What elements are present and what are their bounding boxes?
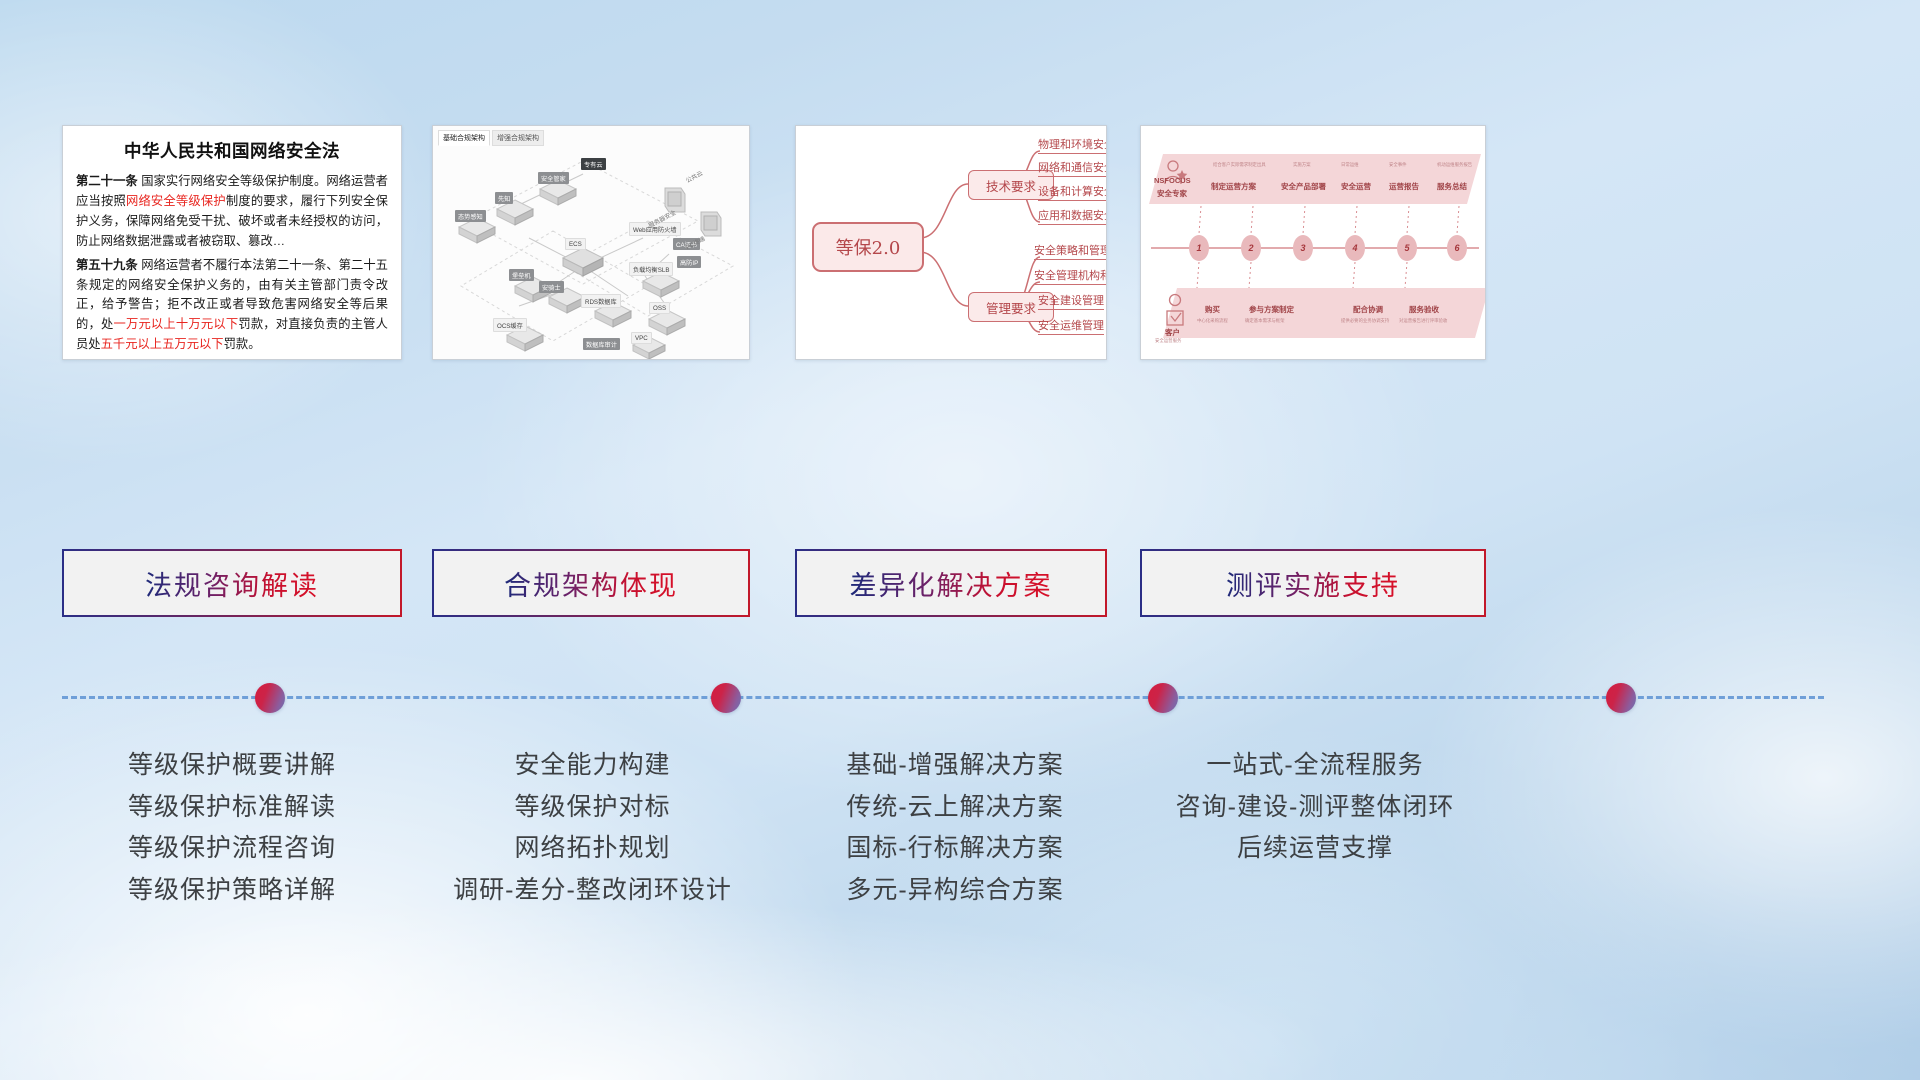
card-mindmap-dengbao[interactable]: 等保2.0 技术要求 管理要求 物理和环境安全 网络和通信安全 设备和计算安全 … bbox=[795, 125, 1107, 360]
list-item: 等级保护概要讲解 bbox=[62, 745, 402, 787]
node-ecs: ECS bbox=[565, 238, 586, 250]
nsfocus-bottom-sub-1: 中心化采购流程 bbox=[1197, 318, 1228, 324]
section-list-compliance-architecture: 安全能力构建 等级保护对标 网络拓扑规划 调研-差分-整改闭环设计 bbox=[425, 745, 760, 911]
section-header-evaluation-support[interactable]: 测评实施支持 bbox=[1140, 549, 1486, 617]
timeline-dot-2[interactable] bbox=[711, 683, 741, 713]
law-article-59-highlight-b: 五千元以上五万元以下 bbox=[101, 337, 224, 351]
section-list-differentiated-solution: 基础-增强解决方案 传统-云上解决方案 国标-行标解决方案 多元-异构综合方案 bbox=[790, 745, 1120, 911]
node-situation-awareness: 态势感知 bbox=[455, 210, 486, 222]
nsfocus-expert-label: 安全专家 bbox=[1157, 188, 1187, 199]
law-title: 中华人民共和国网络安全法 bbox=[76, 138, 388, 163]
nsfocus-step-number-3: 3 bbox=[1293, 235, 1313, 261]
list-items: 一站式-全流程服务 咨询-建设-测评整体闭环 后续运营支撑 bbox=[1135, 745, 1495, 870]
card-cybersecurity-law[interactable]: 中华人民共和国网络安全法 第二十一条 国家实行网络安全等级保护制度。网络运营者应… bbox=[62, 125, 402, 360]
timeline-dot-3[interactable] bbox=[1148, 683, 1178, 713]
nsfocus-top-sub-3: 日常运维 bbox=[1341, 162, 1359, 168]
nsfocus-bottom-sub-4: 对运营报告进行评审验收 bbox=[1399, 318, 1447, 324]
nsfocus-bottom-title-3: 配合协调 bbox=[1353, 304, 1383, 315]
mindmap-leaf-application: 应用和数据安全 bbox=[1038, 207, 1107, 225]
nsfocus-top-title-2: 安全产品部署 bbox=[1281, 181, 1326, 192]
nsfocus-diagram: NSFOCUS 安全专家 结合客户实际需求制定出具 制定运营方案 实施方案 安全… bbox=[1141, 126, 1485, 359]
law-article-59-label: 第五十九条 bbox=[76, 258, 138, 272]
law-article-59: 第五十九条 网络运营者不履行本法第二十一条、第二十五条规定的网络安全保护义务的，… bbox=[76, 256, 388, 356]
law-article-21: 第二十一条 国家实行网络安全等级保护制度。网络运营者应当按照网络安全等级保护制度… bbox=[76, 172, 388, 252]
nsfocus-bottom-title-1: 购买 bbox=[1205, 304, 1220, 315]
timeline-dashed-line bbox=[62, 696, 1824, 699]
section-header-differentiated-solution[interactable]: 差异化解决方案 bbox=[795, 549, 1107, 617]
nsfocus-top-title-4: 运营报告 bbox=[1389, 181, 1419, 192]
list-item: 调研-差分-整改闭环设计 bbox=[425, 870, 760, 912]
law-article-59-highlight-a: 一万元以上十万元以下 bbox=[113, 317, 238, 331]
list-item: 等级保护策略详解 bbox=[62, 870, 402, 912]
nsfocus-step-number-1: 1 bbox=[1189, 235, 1209, 261]
nsfocus-step-number-5: 5 bbox=[1397, 235, 1417, 261]
list-items: 安全能力构建 等级保护对标 网络拓扑规划 调研-差分-整改闭环设计 bbox=[425, 745, 760, 911]
mindmap-leaf-construction: 安全建设管理 bbox=[1038, 292, 1104, 310]
nsfocus-top-sub-1: 结合客户实际需求制定出具 bbox=[1213, 162, 1266, 168]
node-rds-database: RDS数据库 bbox=[581, 294, 621, 308]
mindmap-leaf-organization: 安全管理机构和人员 bbox=[1034, 267, 1107, 285]
node-vpc: VPC bbox=[631, 332, 652, 344]
list-items: 基础-增强解决方案 传统-云上解决方案 国标-行标解决方案 多元-异构综合方案 bbox=[790, 745, 1120, 911]
nsfocus-top-sub-4: 安全事件 bbox=[1389, 162, 1407, 168]
section-list-evaluation-support: 一站式-全流程服务 咨询-建设-测评整体闭环 后续运营支撑 bbox=[1135, 745, 1495, 870]
list-item: 后续运营支撑 bbox=[1135, 828, 1495, 870]
nsfocus-bottom-sub-2: 确定基本需求与框架 bbox=[1245, 318, 1285, 324]
section-header-label: 合规架构体现 bbox=[504, 564, 678, 603]
nsfocus-customer-label: 客户 bbox=[1165, 327, 1180, 338]
mindmap-diagram: 等保2.0 技术要求 管理要求 物理和环境安全 网络和通信安全 设备和计算安全 … bbox=[796, 126, 1106, 359]
law-article-21-highlight: 网络安全等级保护 bbox=[126, 194, 226, 208]
mindmap-leaf-policy: 安全策略和管理制度 bbox=[1034, 242, 1107, 260]
architecture-diagram: 基础合规架构 增强合规架构 bbox=[433, 126, 749, 359]
section-header-regulation-consulting[interactable]: 法规咨询解读 bbox=[62, 549, 402, 617]
nsfocus-top-title-1: 制定运营方案 bbox=[1211, 181, 1256, 192]
nsfocus-step-number-2: 2 bbox=[1241, 235, 1261, 261]
timeline-dot-1[interactable] bbox=[255, 683, 285, 713]
list-item: 基础-增强解决方案 bbox=[790, 745, 1120, 787]
section-header-label: 差异化解决方案 bbox=[850, 564, 1053, 603]
mindmap-leaf-operation: 安全运维管理 bbox=[1038, 317, 1104, 335]
nsfocus-bottom-title-4: 服务验收 bbox=[1409, 304, 1439, 315]
mindmap-leaf-network: 网络和通信安全 bbox=[1038, 159, 1107, 177]
nsfocus-top-sub-2: 实施方案 bbox=[1293, 162, 1311, 168]
mindmap-leaf-physical: 物理和环境安全 bbox=[1038, 136, 1107, 154]
node-xianzhi: 先知 bbox=[495, 192, 513, 204]
nsfocus-brand: NSFOCUS bbox=[1154, 176, 1191, 185]
list-item: 咨询-建设-测评整体闭环 bbox=[1135, 787, 1495, 829]
section-header-label: 测评实施支持 bbox=[1226, 564, 1400, 603]
nsfocus-top-title-3: 安全运营 bbox=[1341, 181, 1371, 192]
nsfocus-customer-sub: 安全运营服务 bbox=[1155, 338, 1181, 344]
list-item: 传统-云上解决方案 bbox=[790, 787, 1120, 829]
node-private-cloud: 专有云 bbox=[581, 158, 606, 170]
nsfocus-top-title-5: 服务总结 bbox=[1437, 181, 1467, 192]
node-security-butler: 安全管家 bbox=[538, 172, 569, 184]
list-item: 等级保护标准解读 bbox=[62, 787, 402, 829]
list-item: 一站式-全流程服务 bbox=[1135, 745, 1495, 787]
section-header-label: 法规咨询解读 bbox=[145, 564, 319, 603]
node-slb: 负载均衡SLB bbox=[629, 262, 673, 276]
node-anti-ddos-ip: 高防IP bbox=[677, 256, 701, 268]
card-compliance-architecture[interactable]: 基础合规架构 增强合规架构 bbox=[432, 125, 750, 360]
nsfocus-top-sub-5: 机动运维服务报告 bbox=[1437, 162, 1472, 168]
section-header-compliance-architecture[interactable]: 合规架构体现 bbox=[432, 549, 750, 617]
list-items: 等级保护概要讲解 等级保护标准解读 等级保护流程咨询 等级保护策略详解 bbox=[62, 745, 402, 911]
nsfocus-bottom-title-2: 参与方案制定 bbox=[1249, 304, 1294, 315]
section-list-regulation-consulting: 等级保护概要讲解 等级保护标准解读 等级保护流程咨询 等级保护策略详解 bbox=[62, 745, 402, 911]
law-article-21-label: 第二十一条 bbox=[76, 174, 138, 188]
mindmap-root-node: 等保2.0 bbox=[812, 222, 924, 272]
law-document: 中华人民共和国网络安全法 第二十一条 国家实行网络安全等级保护制度。网络运营者应… bbox=[63, 126, 401, 359]
nsfocus-bottom-sub-3: 提供必要的业务协调支持 bbox=[1341, 318, 1389, 324]
list-item: 国标-行标解决方案 bbox=[790, 828, 1120, 870]
nsfocus-step-number-6: 6 bbox=[1447, 235, 1467, 261]
node-bastion-host: 堡垒机 bbox=[509, 269, 534, 281]
law-article-59-text-c: 罚款。 bbox=[224, 337, 261, 351]
node-anqishi: 安骑士 bbox=[539, 281, 564, 293]
list-item: 等级保护对标 bbox=[425, 787, 760, 829]
node-database-audit: 数据库审计 bbox=[583, 338, 620, 350]
card-nsfocus-timeline[interactable]: NSFOCUS 安全专家 结合客户实际需求制定出具 制定运营方案 实施方案 安全… bbox=[1140, 125, 1486, 360]
node-ocs-cache: OCS缓存 bbox=[493, 318, 527, 332]
list-item: 安全能力构建 bbox=[425, 745, 760, 787]
list-item: 多元-异构综合方案 bbox=[790, 870, 1120, 912]
list-item: 等级保护流程咨询 bbox=[62, 828, 402, 870]
mindmap-leaf-device: 设备和计算安全 bbox=[1038, 183, 1107, 201]
preview-cards-row: 中华人民共和国网络安全法 第二十一条 国家实行网络安全等级保护制度。网络运营者应… bbox=[0, 0, 1920, 430]
list-item: 网络拓扑规划 bbox=[425, 828, 760, 870]
nsfocus-step-number-4: 4 bbox=[1345, 235, 1365, 261]
timeline-dot-4[interactable] bbox=[1606, 683, 1636, 713]
node-oss: OSS bbox=[649, 302, 670, 314]
